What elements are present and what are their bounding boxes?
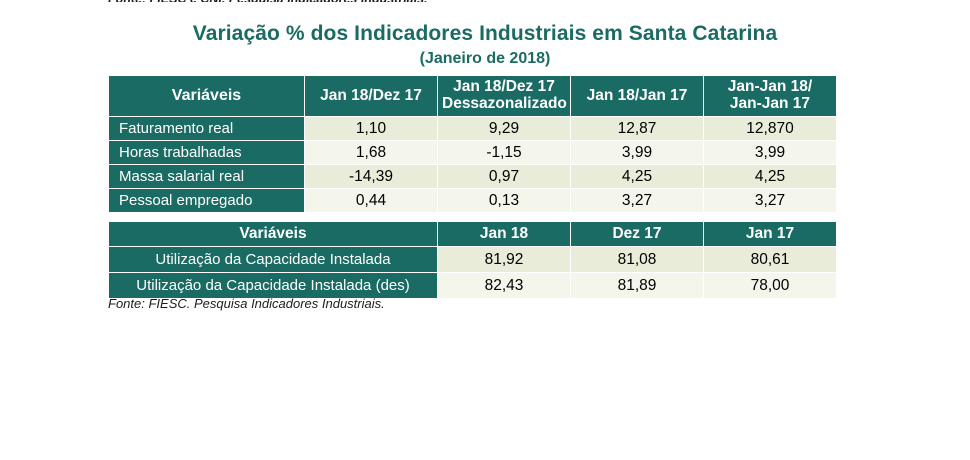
source-note: Fonte: FIESC. Pesquisa Indicadores Indus… <box>108 296 385 311</box>
column-header-jan18: Jan 18 <box>438 222 571 247</box>
row-label: Massa salarial real <box>109 165 305 189</box>
industrial-indicators-table: Variáveis Jan 18/Dez 17 Jan 18/Dez 17 De… <box>108 75 837 213</box>
column-header-variables: Variáveis <box>109 76 305 117</box>
column-header-variables: Variáveis <box>109 222 438 247</box>
row-value: 4,25 <box>704 165 837 189</box>
row-value: -14,39 <box>305 165 438 189</box>
page-title: Variação % dos Indicadores Industriais e… <box>0 22 970 46</box>
row-value: 80,61 <box>704 247 837 273</box>
row-value: 4,25 <box>571 165 704 189</box>
page-subtitle: (Janeiro de 2018) <box>0 50 970 68</box>
row-value: 1,68 <box>305 141 438 165</box>
row-value: 3,99 <box>704 141 837 165</box>
table-row: Utilização da Capacidade Instalada 81,92… <box>109 247 837 273</box>
row-value: 0,44 <box>305 189 438 213</box>
column-header-dez17: Dez 17 <box>571 222 704 247</box>
table-row: Faturamento real 1,10 9,29 12,87 12,870 <box>109 117 837 141</box>
row-value: 3,27 <box>571 189 704 213</box>
table-row: Horas trabalhadas 1,68 -1,15 3,99 3,99 <box>109 141 837 165</box>
row-value: 12,87 <box>571 117 704 141</box>
row-value: 81,89 <box>571 273 704 299</box>
row-value: 3,99 <box>571 141 704 165</box>
row-value: 9,29 <box>438 117 571 141</box>
table-row: Pessoal empregado 0,44 0,13 3,27 3,27 <box>109 189 837 213</box>
row-label: Faturamento real <box>109 117 305 141</box>
row-value: 3,27 <box>704 189 837 213</box>
column-header-janjan18-janjan17: Jan-Jan 18/ Jan-Jan 17 <box>704 76 837 117</box>
table-header-row: Variáveis Jan 18/Dez 17 Jan 18/Dez 17 De… <box>109 76 837 117</box>
row-value: -1,15 <box>438 141 571 165</box>
column-header-line1: Jan-Jan 18/ <box>728 78 812 95</box>
top-source-note: Fonte: FIESC e CNI. Pesquisa Indicadores… <box>108 0 428 2</box>
row-value: 0,97 <box>438 165 571 189</box>
column-header-line1: Jan 18/Dez 17 <box>453 78 555 95</box>
row-label: Pessoal empregado <box>109 189 305 213</box>
row-value: 0,13 <box>438 189 571 213</box>
page-root: Fonte: FIESC e CNI. Pesquisa Indicadores… <box>0 0 970 460</box>
table-row: Massa salarial real -14,39 0,97 4,25 4,2… <box>109 165 837 189</box>
row-value: 81,08 <box>571 247 704 273</box>
column-header-jan18-jan17: Jan 18/Jan 17 <box>571 76 704 117</box>
column-header-jan18-dez17-dessaz: Jan 18/Dez 17 Dessazonalizado <box>438 76 571 117</box>
column-header-jan18-dez17: Jan 18/Dez 17 <box>305 76 438 117</box>
row-label: Horas trabalhadas <box>109 141 305 165</box>
row-value: 12,870 <box>704 117 837 141</box>
column-header-line2: Jan-Jan 17 <box>730 95 810 112</box>
table-row: Utilização da Capacidade Instalada (des)… <box>109 273 837 299</box>
column-header-line2: Dessazonalizado <box>442 95 567 112</box>
row-label: Utilização da Capacidade Instalada (des) <box>109 273 438 299</box>
row-value: 82,43 <box>438 273 571 299</box>
row-value: 1,10 <box>305 117 438 141</box>
row-value: 81,92 <box>438 247 571 273</box>
column-header-jan17: Jan 17 <box>704 222 837 247</box>
table-header-row: Variáveis Jan 18 Dez 17 Jan 17 <box>109 222 837 247</box>
row-value: 78,00 <box>704 273 837 299</box>
row-label: Utilização da Capacidade Instalada <box>109 247 438 273</box>
capacity-utilization-table: Variáveis Jan 18 Dez 17 Jan 17 Utilizaçã… <box>108 221 837 299</box>
